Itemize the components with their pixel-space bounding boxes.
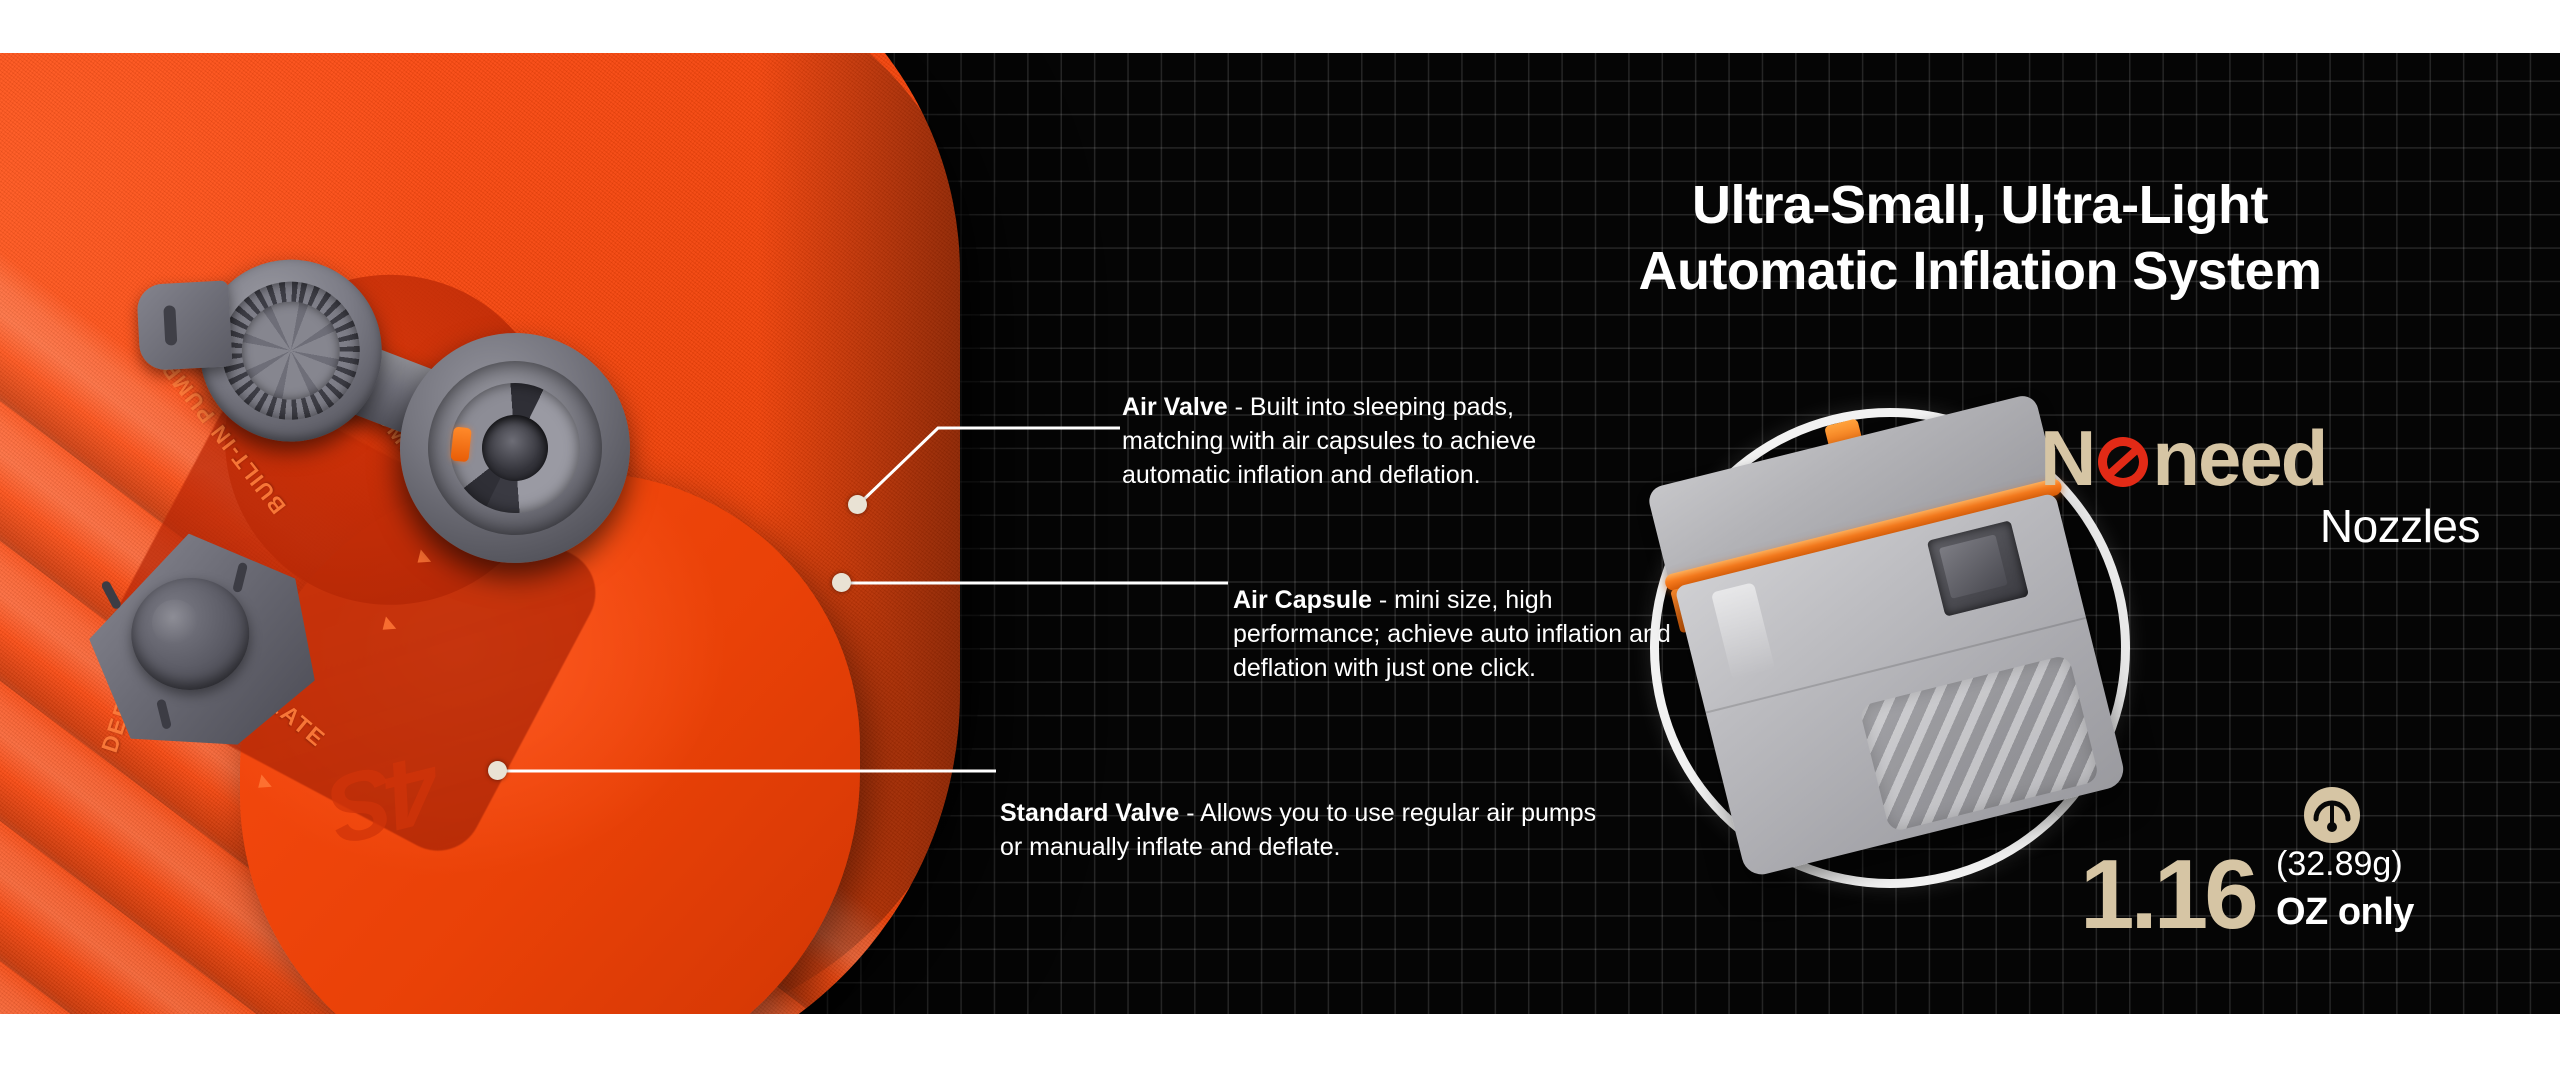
callout-air-valve: Air Valve - Built into sleeping pads, ma… bbox=[1122, 390, 1592, 492]
callout-air-valve-title: Air Valve bbox=[1122, 393, 1228, 421]
socket-orange-tab bbox=[450, 426, 471, 462]
callout-air-capsule: Air Capsule - mini size, high performanc… bbox=[1233, 583, 1673, 685]
product-feature-banner: BUILT-IN PUMP BUILT-IN PUMP PUT IN DEFLA… bbox=[0, 53, 2560, 1014]
gauge-icon bbox=[2302, 785, 2362, 845]
weight-value: 1.16 bbox=[2080, 845, 2255, 943]
callout-air-valve-dash: - bbox=[1228, 393, 1250, 421]
callout-standard-valve: Standard Valve - Allows you to use regul… bbox=[1000, 796, 1620, 864]
weight-unit: OZ only bbox=[2276, 891, 2414, 934]
pump-gloss-highlight bbox=[1711, 582, 1775, 680]
headline: Ultra-Small, Ultra-Light Automatic Infla… bbox=[1430, 173, 2530, 305]
nozzles-subtitle: Nozzles bbox=[2040, 499, 2480, 553]
callout-standard-valve-dash: - bbox=[1179, 799, 1200, 827]
leader-dot-standard-valve bbox=[488, 761, 507, 780]
no-entry-icon bbox=[2098, 437, 2148, 487]
no-need-letter-n: N bbox=[2040, 421, 2094, 495]
standard-valve-slot-1 bbox=[100, 580, 122, 611]
no-need-nozzles-badge: N need Nozzles bbox=[2040, 421, 2480, 553]
no-need-word: need bbox=[2152, 421, 2326, 495]
pump-display-window bbox=[1927, 520, 2029, 616]
valve-pull-tab bbox=[136, 280, 232, 371]
leader-dot-air-valve bbox=[848, 495, 867, 514]
decal-arrow-3 bbox=[253, 775, 272, 794]
callout-air-capsule-dash: - bbox=[1372, 586, 1394, 614]
standard-valve bbox=[79, 522, 320, 759]
headline-line-2: Automatic Inflation System bbox=[1430, 239, 2530, 305]
leader-dot-air-capsule bbox=[832, 573, 851, 592]
sleeping-pad-image: BUILT-IN PUMP BUILT-IN PUMP PUT IN DEFLA… bbox=[0, 53, 1200, 1014]
headline-line-1: Ultra-Small, Ultra-Light bbox=[1430, 173, 2530, 239]
no-need-line: N need bbox=[2040, 421, 2480, 495]
callout-air-capsule-title: Air Capsule bbox=[1233, 586, 1372, 614]
weight-grams: (32.89g) bbox=[2276, 845, 2403, 884]
callout-standard-valve-title: Standard Valve bbox=[1000, 799, 1179, 827]
